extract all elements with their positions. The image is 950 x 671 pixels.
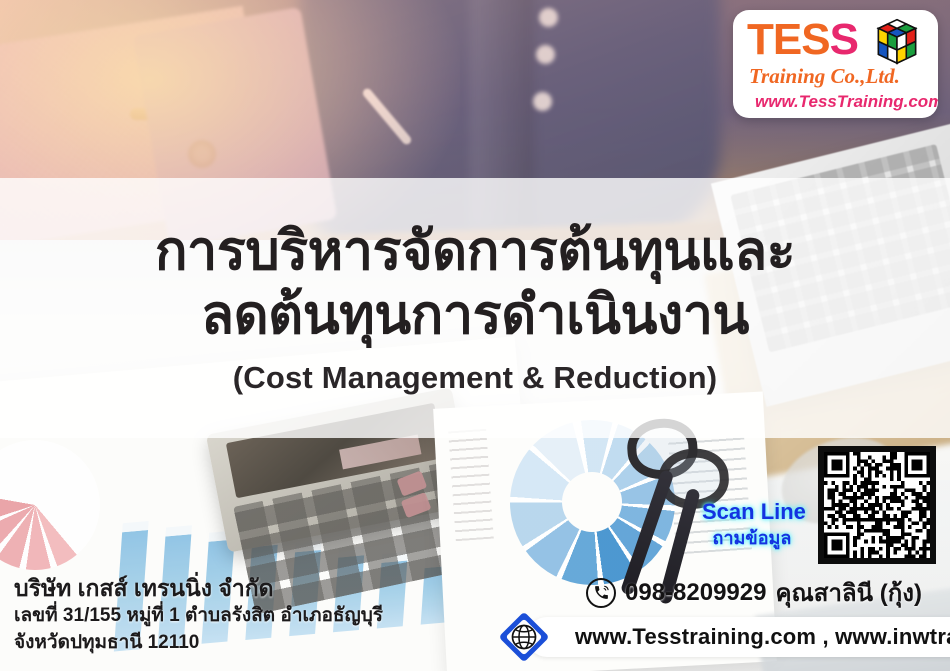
logo-wordmark-part2: S [830, 15, 858, 64]
shirt-button [539, 8, 558, 27]
phone-icon [586, 578, 616, 608]
poster-root: การบริหารจัดการต้นทุนและ ลดต้นทุนการดำเน… [0, 0, 950, 671]
rubiks-cube-icon [866, 16, 928, 78]
phone-contact-row[interactable]: 098-8209929 คุณสาลินี (กุ้ง) [586, 573, 922, 612]
company-address-line-2: จังหวัดปทุมธานี 12110 [14, 630, 383, 657]
shirt-button [533, 92, 552, 111]
website-urls: www.Tesstraining.com , www.inwtraining.c… [575, 624, 950, 650]
scan-line-label-en: Scan Line [702, 500, 802, 524]
company-name: บริษัท เกสส์ เทรนนิ่ง จำกัด [14, 573, 383, 603]
tess-logo[interactable]: TESS Training Co.,Ltd. www.TessTraining.… [733, 10, 938, 118]
contact-person-name: คุณสาลินี (กุ้ง) [775, 573, 921, 612]
scan-line-block: Scan Line ถามข้อมูล [702, 500, 802, 550]
shirt-button [536, 45, 555, 64]
logo-wordmark: TESS [747, 18, 858, 62]
company-address-line-1: เลขที่ 31/155 หมู่ที่ 1 ตำบลรังสิต อำเภอ… [14, 603, 383, 630]
company-info-block: บริษัท เกสส์ เทรนนิ่ง จำกัด เลขที่ 31/15… [14, 573, 383, 657]
title-subtitle: (Cost Management & Reduction) [233, 360, 718, 396]
scan-line-label-th: ถามข้อมูล [702, 527, 802, 550]
qr-code-image [824, 452, 930, 558]
title-line-2: ลดต้นทุนการดำเนินงาน [201, 284, 749, 348]
tablet-camera [188, 140, 216, 168]
title-block: การบริหารจัดการต้นทุนและ ลดต้นทุนการดำเน… [0, 178, 950, 438]
logo-wordmark-part1: TES [747, 15, 830, 64]
globe-icon [500, 613, 548, 661]
phone-number: 098-8209929 [625, 579, 766, 607]
website-pill[interactable]: www.Tesstraining.com , www.inwtraining.c… [527, 617, 950, 657]
document-text-lines [448, 429, 494, 541]
title-line-1: การบริหารจัดการต้นทุนและ [155, 220, 795, 284]
logo-website: www.TessTraining.com [755, 92, 938, 112]
qr-code[interactable] [818, 446, 936, 564]
calculator-lcd [339, 435, 421, 470]
